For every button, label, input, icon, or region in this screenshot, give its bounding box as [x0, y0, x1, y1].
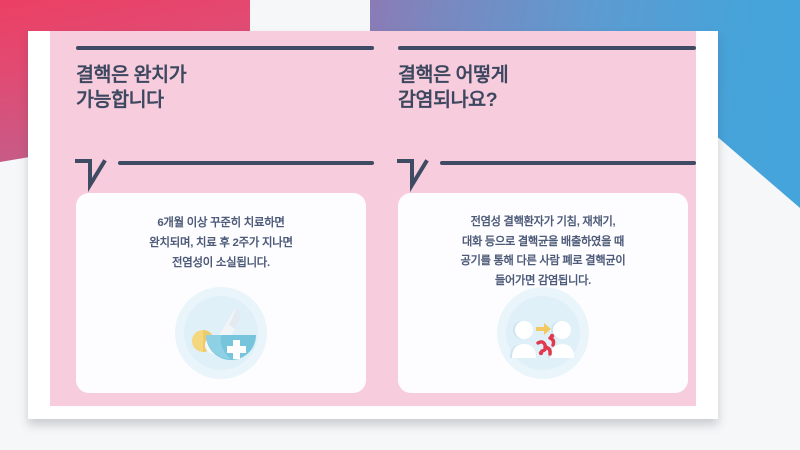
slide-sheet: 결핵은 완치가 가능합니다 6개월 이상 꾸준히 치료하면 완치되며, 치료 후… — [28, 31, 718, 419]
check-vmark-icon — [74, 157, 118, 195]
panel-top-rule — [398, 46, 696, 50]
panel-bottom-rule — [440, 161, 696, 165]
info-card-treatment: 6개월 이상 꾸준히 치료하면 완치되며, 치료 후 2주가 지나면 전염성이 … — [76, 193, 366, 393]
panel-top-rule — [76, 46, 374, 50]
slide-canvas: 결핵은 완치가 가능합니다 6개월 이상 꾸준히 치료하면 완치되며, 치료 후… — [0, 0, 800, 450]
info-card-text-treatment: 6개월 이상 꾸준히 치료하면 완치되며, 치료 후 2주가 지나면 전염성이 … — [90, 213, 352, 273]
person-to-person-transmission-icon — [495, 285, 591, 381]
panel-title-treatment: 결핵은 완치가 가능합니다 — [76, 63, 366, 113]
panel-bottom-rule — [118, 161, 374, 165]
mortar-and-pills-icon — [173, 285, 269, 381]
info-card-transmission: 전염성 결핵환자가 기침, 재채기, 대화 등으로 결핵균을 배출하였을 때 공… — [398, 193, 688, 393]
panel-transmission: 결핵은 어떻게 감염되나요? 전염성 결핵환자가 기침, 재채기, 대화 등으로… — [390, 31, 696, 406]
check-vmark-icon — [396, 157, 440, 195]
panel-title-transmission: 결핵은 어떻게 감염되나요? — [398, 63, 688, 113]
panel-treatment: 결핵은 완치가 가능합니다 6개월 이상 꾸준히 치료하면 완치되며, 치료 후… — [68, 31, 374, 406]
info-card-text-transmission: 전염성 결핵환자가 기침, 재채기, 대화 등으로 결핵균을 배출하였을 때 공… — [412, 213, 674, 291]
pink-board: 결핵은 완치가 가능합니다 6개월 이상 꾸준히 치료하면 완치되며, 치료 후… — [50, 31, 696, 406]
